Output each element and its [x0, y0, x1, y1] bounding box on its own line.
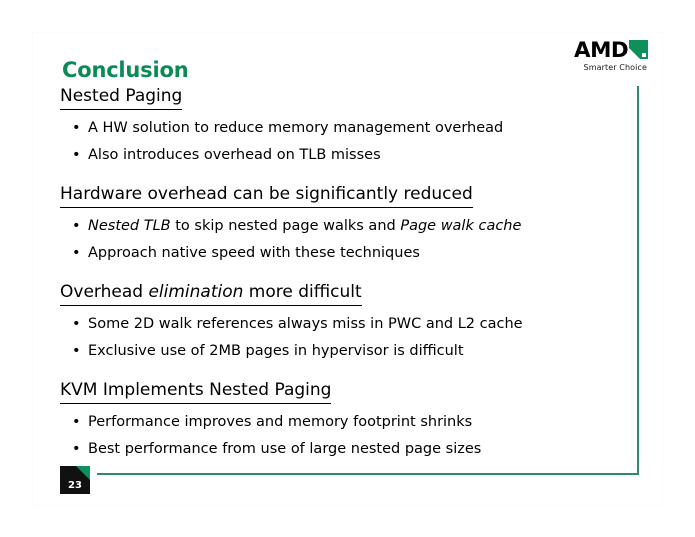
bullet-list: •Performance improves and memory footpri…: [60, 409, 620, 463]
section-heading: Hardware overhead can be significantly r…: [60, 182, 473, 208]
bullet-text: Exclusive use of 2MB pages in hypervisor…: [88, 343, 464, 359]
bullet-dot-icon: •: [72, 409, 81, 436]
badge-corner-triangle-icon: [76, 466, 90, 480]
bullet-text: Some 2D walk references always miss in P…: [88, 316, 523, 332]
text-run: A HW solution to reduce memory managemen…: [88, 120, 503, 136]
bullet-dot-icon: •: [72, 240, 81, 267]
content-section: Nested Paging•A HW solution to reduce me…: [60, 84, 620, 169]
amd-arrow-icon: [629, 40, 648, 59]
text-run: Some 2D walk references always miss in P…: [88, 316, 523, 332]
content-section: KVM Implements Nested Paging•Performance…: [60, 378, 620, 463]
accent-border-vertical: [637, 86, 639, 475]
bullet-dot-icon: •: [72, 436, 81, 463]
amd-logo: AMD Smarter Choice: [556, 40, 648, 78]
page-number-badge: 23: [60, 466, 90, 494]
text-run: Hardware overhead can be significantly r…: [60, 184, 473, 204]
bullet-dot-icon: •: [72, 213, 81, 240]
bullet-text: Performance improves and memory footprin…: [88, 414, 472, 430]
slide-content: Nested Paging•A HW solution to reduce me…: [60, 84, 620, 463]
text-run: Approach native speed with these techniq…: [88, 245, 420, 261]
amd-tagline: Smarter Choice: [556, 63, 648, 72]
text-run: Exclusive use of 2MB pages in hypervisor…: [88, 343, 464, 359]
bullet-item: •Performance improves and memory footpri…: [60, 409, 620, 436]
bullet-text: Nested TLB to skip nested page walks and…: [88, 218, 521, 234]
text-run: more difficult: [243, 282, 361, 302]
text-run: to skip nested page walks and: [171, 218, 401, 234]
text-run: Overhead: [60, 282, 148, 302]
content-section: Overhead elimination more difficult•Some…: [60, 280, 620, 365]
bullet-item: •Approach native speed with these techni…: [60, 240, 620, 267]
bullet-dot-icon: •: [72, 311, 81, 338]
text-run-italic: elimination: [148, 282, 243, 302]
bullet-dot-icon: •: [72, 115, 81, 142]
amd-wordmark-row: AMD: [556, 40, 648, 61]
bullet-item: •Nested TLB to skip nested page walks an…: [60, 213, 620, 240]
text-run: Also introduces overhead on TLB misses: [88, 147, 381, 163]
bullet-item: •Also introduces overhead on TLB misses: [60, 142, 620, 169]
bullet-list: •A HW solution to reduce memory manageme…: [60, 115, 620, 169]
bullet-text: Also introduces overhead on TLB misses: [88, 147, 381, 163]
amd-wordmark: AMD: [574, 40, 628, 60]
text-run-italic: Page walk cache: [400, 218, 521, 234]
text-run-italic: Nested TLB: [88, 218, 171, 234]
section-heading: Nested Paging: [60, 84, 182, 110]
presentation-slide: AMD Smarter Choice 23 Conclusion Nested …: [0, 0, 695, 537]
bullet-text: A HW solution to reduce memory managemen…: [88, 120, 503, 136]
text-run: Performance improves and memory footprin…: [88, 414, 472, 430]
text-run: Nested Paging: [60, 86, 182, 106]
accent-border-horizontal: [97, 473, 639, 475]
bullet-list: •Nested TLB to skip nested page walks an…: [60, 213, 620, 267]
page-number: 23: [60, 481, 90, 491]
section-heading: KVM Implements Nested Paging: [60, 378, 331, 404]
bullet-text: Approach native speed with these techniq…: [88, 245, 420, 261]
content-section: Hardware overhead can be significantly r…: [60, 182, 620, 267]
bullet-item: •Some 2D walk references always miss in …: [60, 311, 620, 338]
text-run: Best performance from use of large neste…: [88, 441, 481, 457]
bullet-dot-icon: •: [72, 338, 81, 365]
bullet-item: •A HW solution to reduce memory manageme…: [60, 115, 620, 142]
bullet-item: •Best performance from use of large nest…: [60, 436, 620, 463]
bullet-item: •Exclusive use of 2MB pages in hyperviso…: [60, 338, 620, 365]
section-heading: Overhead elimination more difficult: [60, 280, 362, 306]
bullet-list: •Some 2D walk references always miss in …: [60, 311, 620, 365]
bullet-text: Best performance from use of large neste…: [88, 441, 481, 457]
text-run: KVM Implements Nested Paging: [60, 380, 331, 400]
bullet-dot-icon: •: [72, 142, 81, 169]
page-title: Conclusion: [62, 58, 188, 82]
